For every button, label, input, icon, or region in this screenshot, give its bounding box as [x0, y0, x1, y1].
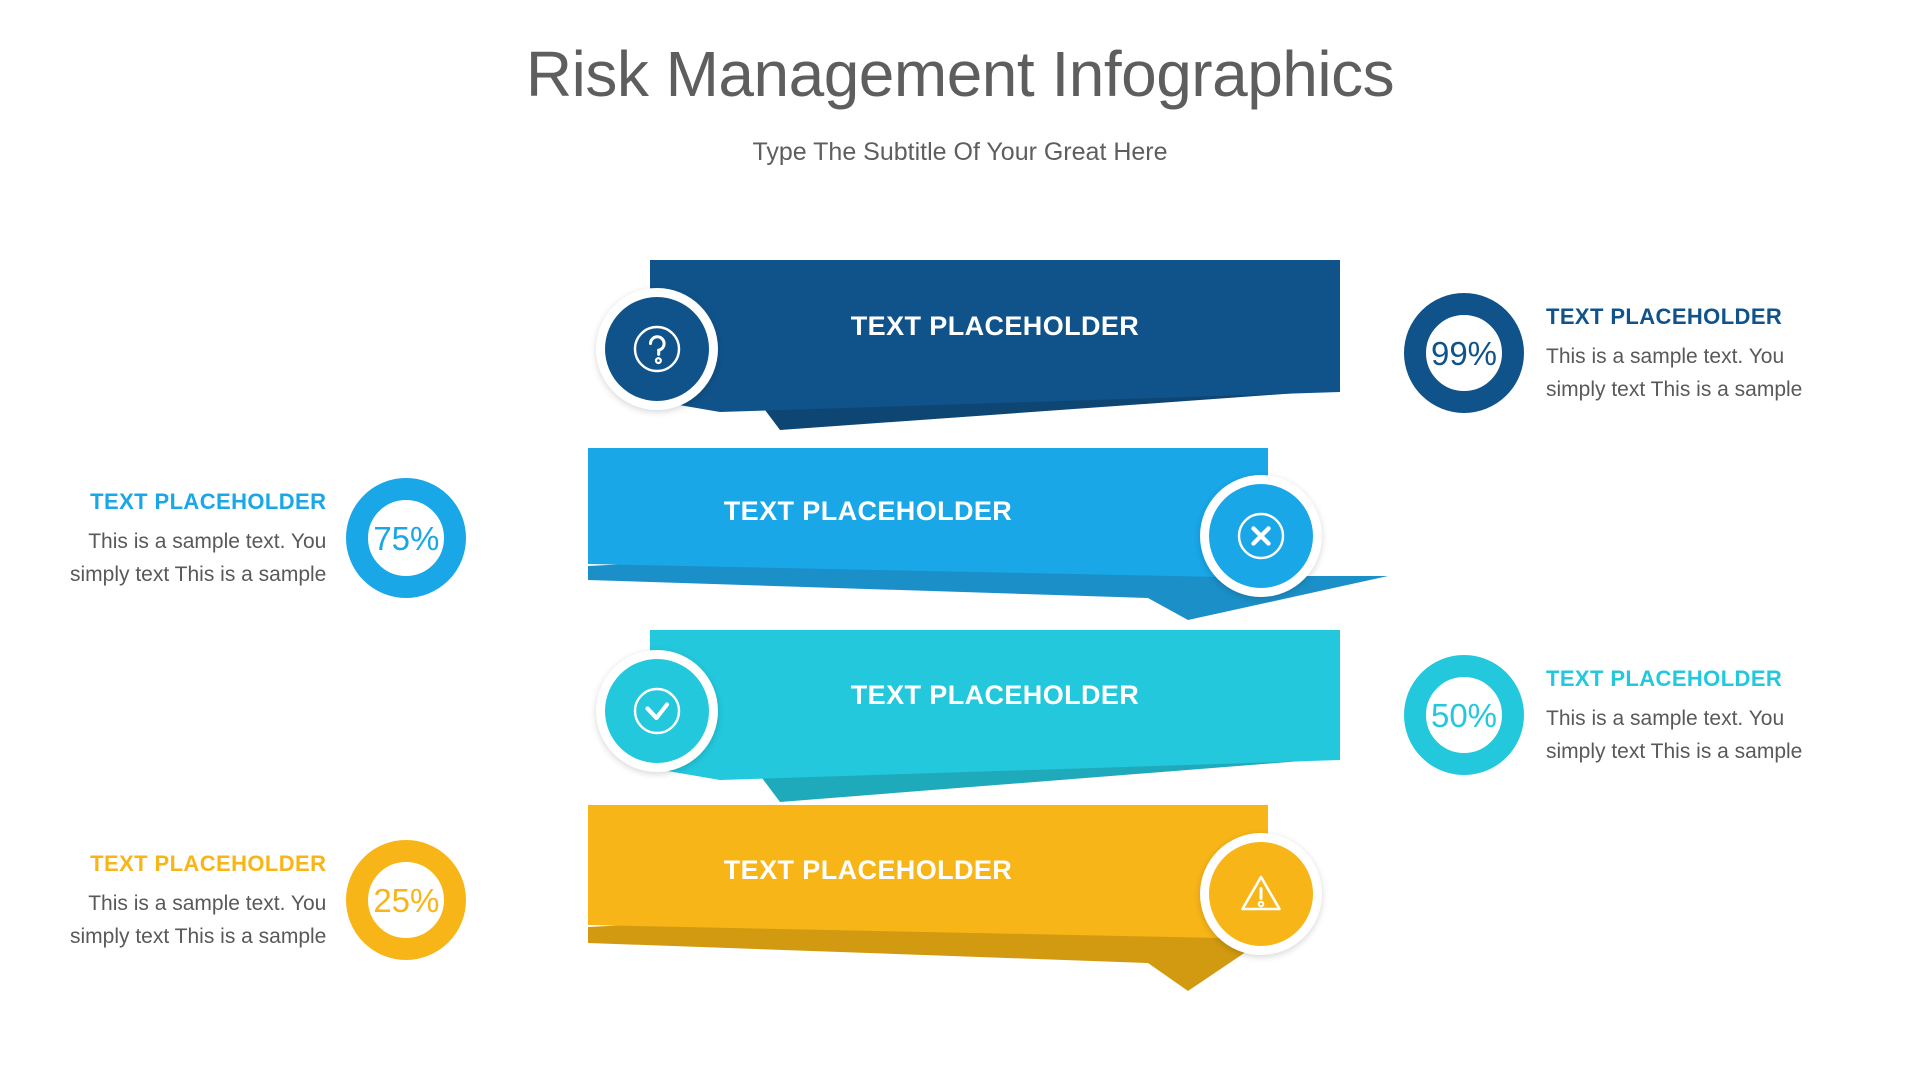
- stat-percent-25: 25%: [373, 884, 439, 917]
- banner-row-4[interactable]: TEXT PLACEHOLDER: [588, 805, 1268, 995]
- stat-heading-99: TEXT PLACEHOLDER: [1546, 300, 1802, 334]
- check-mark-icon: [629, 683, 685, 739]
- stat-body-line1-25: This is a sample text. You: [70, 888, 326, 921]
- page-subtitle: Type The Subtitle Of Your Great Here: [0, 138, 1920, 167]
- x-cross-icon: [1233, 508, 1289, 564]
- banner-body-2: [588, 448, 1268, 578]
- banner-icon-badge-3[interactable]: [596, 650, 718, 772]
- infographic-slide: Risk Management Infographics Type The Su…: [0, 0, 1920, 1080]
- stat-body-75: This is a sample text. You simply text T…: [70, 526, 326, 591]
- banner-shape-1: [650, 260, 1340, 440]
- stat-text-25: TEXT PLACEHOLDER This is a sample text. …: [70, 847, 326, 953]
- stat-percent-99: 99%: [1431, 337, 1497, 370]
- stat-block-75[interactable]: TEXT PLACEHOLDER This is a sample text. …: [70, 478, 466, 598]
- stat-body-line1-99: This is a sample text. You: [1546, 341, 1802, 374]
- warning-triangle-icon: [1232, 865, 1290, 923]
- stat-text-75: TEXT PLACEHOLDER This is a sample text. …: [70, 485, 326, 591]
- stat-body-line1-75: This is a sample text. You: [70, 526, 326, 559]
- stat-heading-50: TEXT PLACEHOLDER: [1546, 662, 1802, 696]
- banner-body-1: [650, 260, 1340, 412]
- banner-shape-2: [588, 448, 1268, 628]
- banner-row-2[interactable]: TEXT PLACEHOLDER: [588, 448, 1268, 628]
- stat-percent-50: 50%: [1431, 699, 1497, 732]
- banner-icon-badge-4[interactable]: [1200, 833, 1322, 955]
- stat-text-50: TEXT PLACEHOLDER This is a sample text. …: [1546, 662, 1802, 768]
- stat-body-line1-50: This is a sample text. You: [1546, 703, 1802, 736]
- stat-heading-25: TEXT PLACEHOLDER: [70, 847, 326, 881]
- banner-row-3[interactable]: TEXT PLACEHOLDER: [650, 630, 1340, 810]
- banner-body-3: [650, 630, 1340, 780]
- stat-ring-50: 50%: [1404, 655, 1524, 775]
- stat-block-50[interactable]: 50% TEXT PLACEHOLDER This is a sample te…: [1404, 655, 1802, 775]
- stat-text-99: TEXT PLACEHOLDER This is a sample text. …: [1546, 300, 1802, 406]
- page-title: Risk Management Infographics: [0, 38, 1920, 112]
- banner-shape-3: [650, 630, 1340, 810]
- stat-body-line2-99: simply text This is a sample: [1546, 374, 1802, 407]
- stat-body-50: This is a sample text. You simply text T…: [1546, 703, 1802, 768]
- question-mark-icon: [629, 321, 685, 377]
- banner-body-4: [588, 805, 1268, 939]
- stat-body-line2-75: simply text This is a sample: [70, 559, 326, 592]
- stat-body-line2-50: simply text This is a sample: [1546, 736, 1802, 769]
- stat-body-line2-25: simply text This is a sample: [70, 921, 326, 954]
- stat-ring-75: 75%: [346, 478, 466, 598]
- stat-ring-25: 25%: [346, 840, 466, 960]
- banner-shape-4: [588, 805, 1268, 995]
- stat-block-99[interactable]: 99% TEXT PLACEHOLDER This is a sample te…: [1404, 293, 1802, 413]
- stat-body-25: This is a sample text. You simply text T…: [70, 888, 326, 953]
- banner-icon-badge-1[interactable]: [596, 288, 718, 410]
- stat-block-25[interactable]: TEXT PLACEHOLDER This is a sample text. …: [70, 840, 466, 960]
- stat-percent-75: 75%: [373, 522, 439, 555]
- stat-heading-75: TEXT PLACEHOLDER: [70, 485, 326, 519]
- stat-ring-99: 99%: [1404, 293, 1524, 413]
- stat-body-99: This is a sample text. You simply text T…: [1546, 341, 1802, 406]
- banner-icon-badge-2[interactable]: [1200, 475, 1322, 597]
- banner-row-1[interactable]: TEXT PLACEHOLDER: [650, 260, 1340, 440]
